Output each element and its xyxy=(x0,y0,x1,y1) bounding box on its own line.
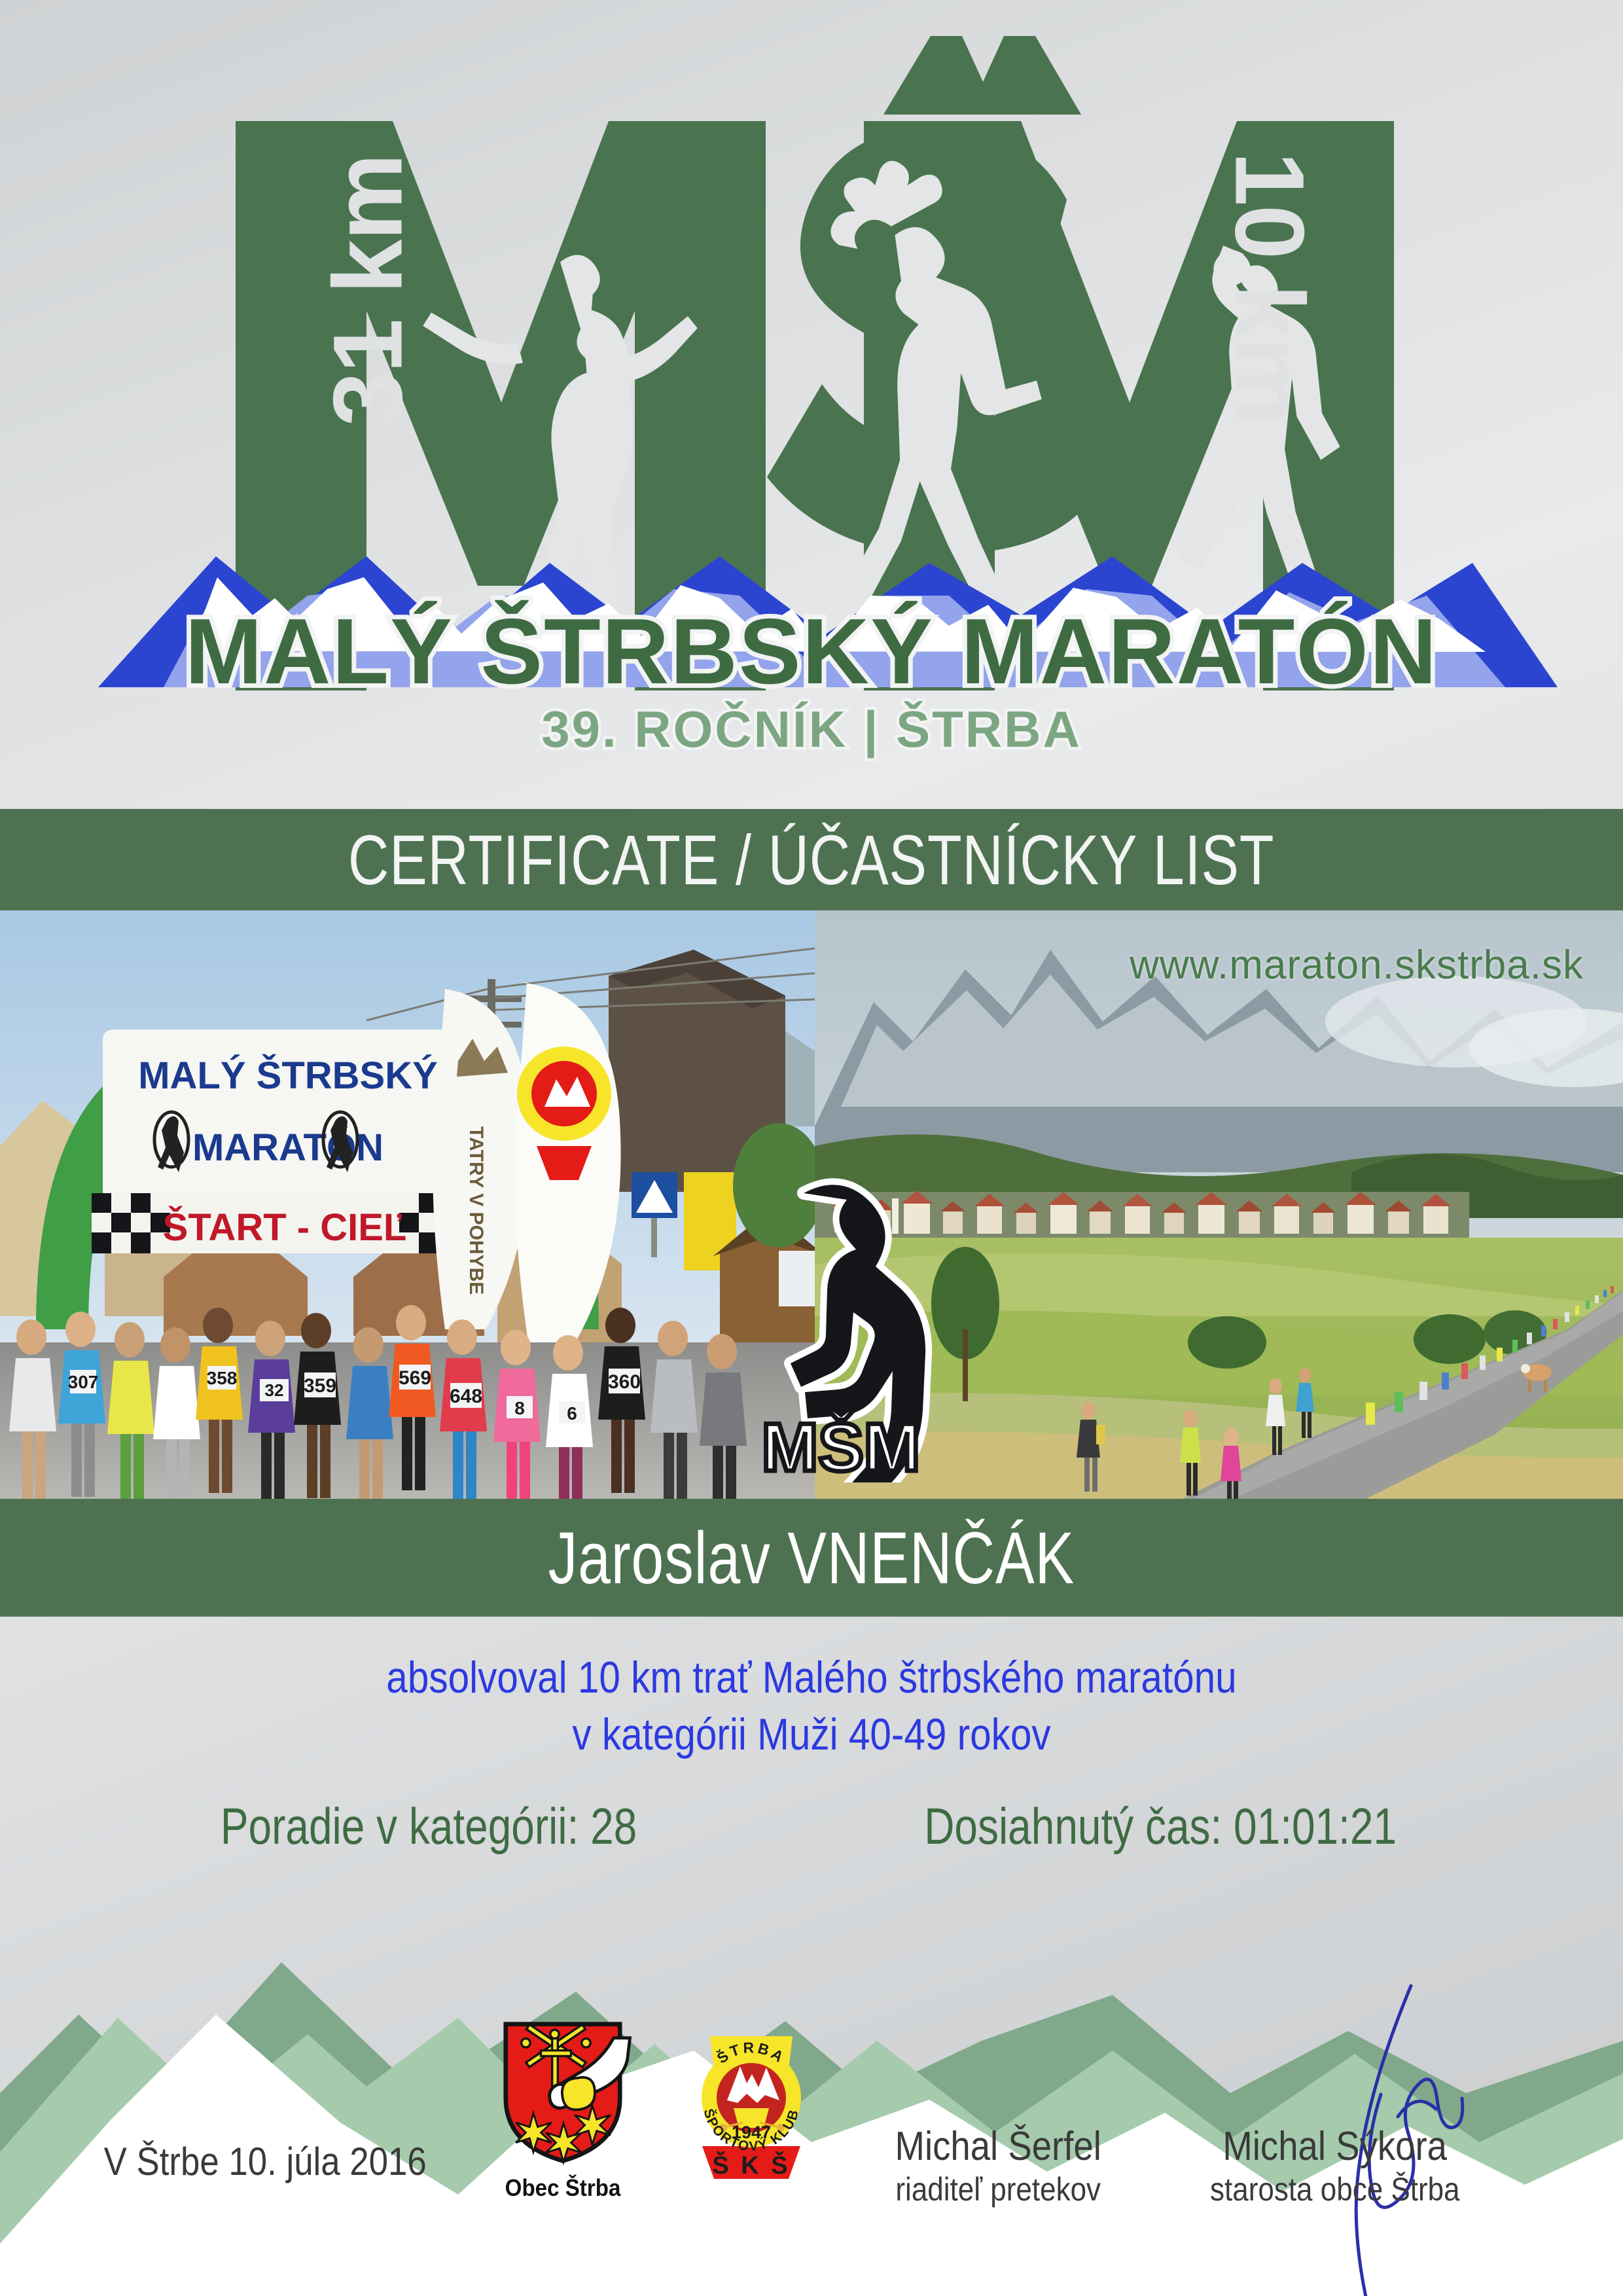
emblem-obec-strba-caption: Obec Štrba xyxy=(494,2174,632,2202)
arch-line1: MALÝ ŠTRBSKÝ xyxy=(138,1054,438,1097)
signatory-name: Michal Sýkora xyxy=(1152,2125,1518,2169)
msm-sticker-text: MŠM xyxy=(762,1409,921,1482)
signatory-role: riaditeľ pretekov xyxy=(815,2169,1181,2210)
arch-line2: MARATÓN xyxy=(192,1126,383,1169)
sks-abbrev: Š K Š xyxy=(712,2150,790,2179)
emblem-obec-strba: Obec Štrba xyxy=(494,2018,632,2202)
event-subtitle: 39. ROČNÍK | ŠTRBA xyxy=(0,704,1623,755)
bib-number: 648 xyxy=(450,1386,482,1407)
category-rank: Poradie v kategórii: 28 xyxy=(221,1797,637,1856)
bib-number: 569 xyxy=(399,1367,431,1389)
bib-number: 307 xyxy=(68,1372,99,1392)
emblem-sportovy-klub-strba: 1947 ŠTRBA ŠPORTOVÝ KLUB Š K Š xyxy=(690,2018,811,2185)
certificate-heading: CERTIFICATE / ÚČASTNÍCKY LIST xyxy=(348,819,1274,901)
signatory-name: Michal Šerfel xyxy=(815,2125,1181,2169)
signatory-mayor: Michal Sýkora starosta obce Štrba xyxy=(1152,2125,1518,2210)
bib-number: 360 xyxy=(608,1371,641,1393)
obec-strba-shield xyxy=(494,2018,632,2168)
achievement-line-2: v kategórii Muži 40-49 rokov xyxy=(114,1706,1510,1763)
bib-number: 6 xyxy=(567,1403,577,1424)
certificate-heading-band: CERTIFICATE / ÚČASTNÍCKY LIST xyxy=(0,809,1623,910)
footer: V Štrbe 10. júla 2016 xyxy=(0,1877,1623,2296)
participant-name: Jaroslav VNENČÁK xyxy=(548,1516,1075,1600)
certificate-page: 31 km 10 km MALÝ ŠTRBSKÝ MARATÓN 39. ROČ… xyxy=(0,0,1623,2296)
signatory-role: starosta obce Štrba xyxy=(1152,2169,1518,2210)
signatory-race-director: Michal Šerfel riaditeľ pretekov xyxy=(815,2125,1181,2210)
participant-name-band: Jaroslav VNENČÁK xyxy=(0,1499,1623,1617)
achievement-line-1: absolvoval 10 km trať Malého štrbského m… xyxy=(114,1649,1510,1706)
achievement-text: absolvoval 10 km trať Malého štrbského m… xyxy=(0,1649,1623,1763)
runner-crowd: 307 358 32 359 569 648 8 6 360 xyxy=(9,1305,802,1499)
bib-number: 32 xyxy=(265,1380,284,1400)
finish-time: Dosiahnutý čas: 01:01:21 xyxy=(924,1797,1397,1856)
bib-number: 8 xyxy=(514,1398,525,1418)
distance-badge-right: 10 km xyxy=(1213,152,1327,427)
result-row: Poradie v kategórii: 28 Dosiahnutý čas: … xyxy=(0,1797,1623,1856)
bib-number: 358 xyxy=(207,1368,238,1388)
event-title: MALÝ ŠTRBSKÝ MARATÓN xyxy=(0,605,1623,698)
website-url: www.maraton.skstrba.sk xyxy=(1130,942,1584,988)
sks-logo: 1947 ŠTRBA ŠPORTOVÝ KLUB Š K Š xyxy=(690,2018,811,2181)
bib-number: 359 xyxy=(304,1375,336,1397)
start-finish-banner-text: ŠTART - CIEĽ xyxy=(163,1206,407,1249)
distance-badge-left: 31 km xyxy=(312,152,425,427)
logo-header: 31 km 10 km MALÝ ŠTRBSKÝ MARATÓN 39. ROČ… xyxy=(0,0,1623,809)
footer-mountain-graphic xyxy=(0,1877,1623,2296)
photo-race-start: MALÝ ŠTRBSKÝ MARATÓN xyxy=(0,910,815,1499)
msm-sticker-overlay: MŠM xyxy=(733,1175,949,1482)
svg-text:MŠM: MŠM xyxy=(762,1409,921,1482)
place-and-date: V Štrbe 10. júla 2016 xyxy=(62,2139,468,2184)
photo-race-start-illustration: MALÝ ŠTRBSKÝ MARATÓN xyxy=(0,910,815,1499)
flag-left-label: TATRY V POHYBE xyxy=(465,1126,487,1295)
